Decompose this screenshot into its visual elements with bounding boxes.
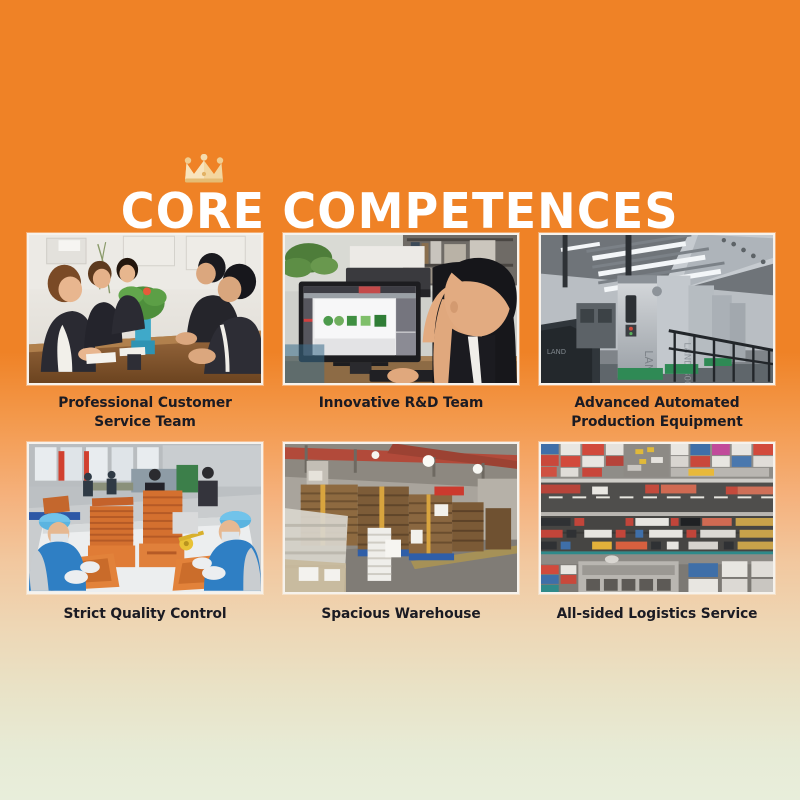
caption: Innovative R&D Team: [289, 394, 513, 413]
caption: All-sided Logistics Service: [545, 605, 769, 624]
caption: Advanced Automated Production Equipment: [545, 394, 769, 432]
caption: Professional Customer Service Team: [33, 394, 257, 432]
caption: Strict Quality Control: [33, 605, 257, 624]
crown-icon: [182, 154, 226, 184]
competence-card-innovative-rd-team[interactable]: Innovative R&D Team: [283, 233, 519, 432]
caption: Spacious Warehouse: [289, 605, 513, 624]
photo-frame: [283, 233, 519, 385]
competence-card-strict-quality-control[interactable]: Strict Quality Control: [27, 442, 263, 624]
photo-quality-control: [29, 444, 261, 592]
photo-frame: [27, 233, 263, 385]
svg-text:LAND: LAND: [547, 348, 566, 356]
competence-grid: Professional Customer Service Team: [27, 233, 775, 624]
photo-warehouse: [285, 444, 517, 592]
photo-frame: LAND 800 LAND 800 LAND: [539, 233, 775, 385]
photo-frame: [539, 442, 775, 594]
photo-meeting-room: [29, 235, 261, 383]
svg-text:LAND 800: LAND 800: [682, 342, 692, 383]
core-competences-banner: CORE COMPETENCES: [0, 0, 800, 800]
competence-card-advanced-automated-production-equipment[interactable]: LAND 800 LAND 800 LAND: [539, 233, 775, 432]
photo-frame: [283, 442, 519, 594]
photo-designer-workstation: [285, 235, 517, 383]
competence-card-spacious-warehouse[interactable]: Spacious Warehouse: [283, 442, 519, 624]
competence-card-all-sided-logistics-service[interactable]: All-sided Logistics Service: [539, 442, 775, 624]
photo-printing-press: LAND 800 LAND 800 LAND: [541, 235, 773, 383]
photo-logistics-aerial: [541, 444, 773, 592]
photo-frame: [27, 442, 263, 594]
competence-card-professional-customer-service-team[interactable]: Professional Customer Service Team: [27, 233, 263, 432]
